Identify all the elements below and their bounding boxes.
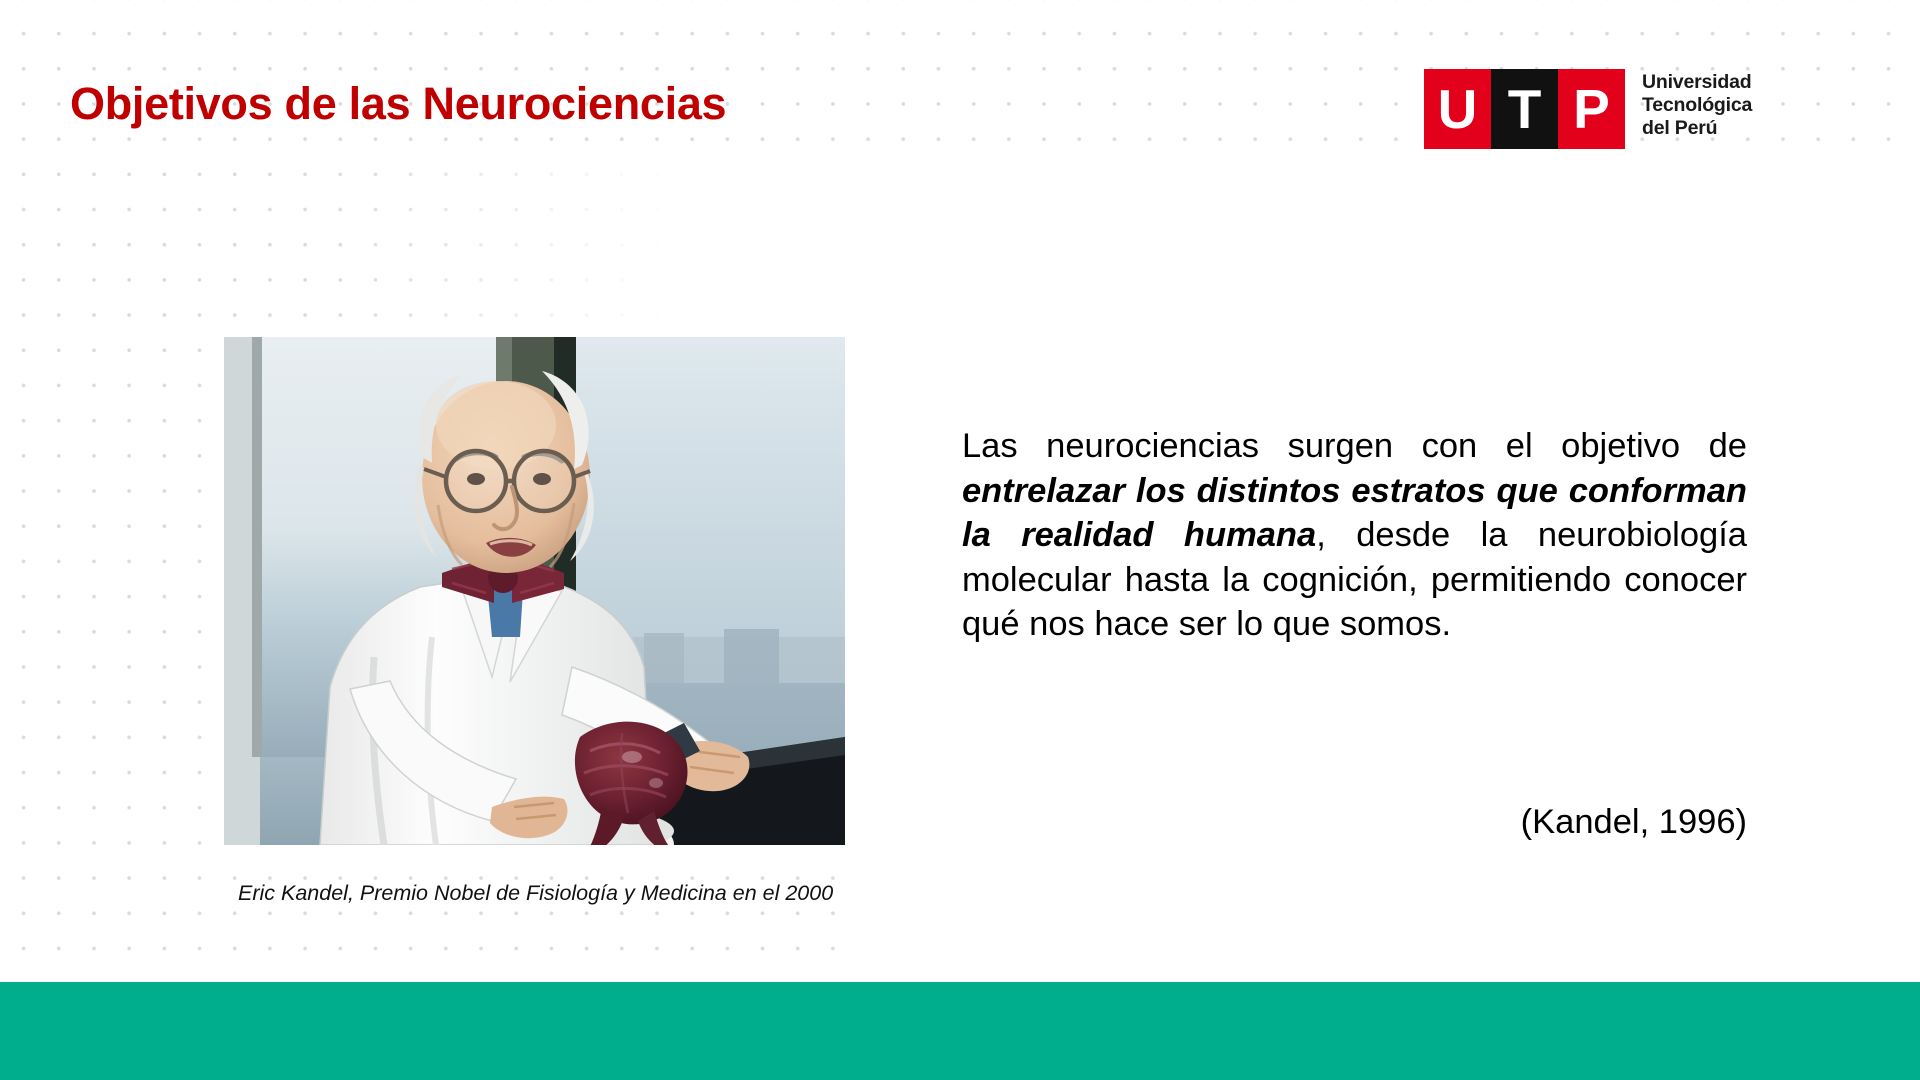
kandel-photo-illustration — [224, 337, 845, 845]
background-mask-top — [330, 150, 1920, 320]
utp-letter-p: P — [1558, 69, 1625, 149]
body-lead-text: Las neurociencias surgen con el objetivo… — [962, 427, 1747, 465]
body-paragraph: Las neurociencias surgen con el objetivo… — [962, 424, 1747, 647]
utp-wordmark-line-1: Universidad — [1642, 71, 1752, 94]
utp-letter-t: T — [1491, 69, 1558, 149]
photo-caption-text: Eric Kandel, Premio Nobel de Fisiología … — [238, 881, 833, 905]
utp-wordmark-line-3: del Perú — [1642, 117, 1752, 140]
photo-caption: Eric Kandel, Premio Nobel de Fisiología … — [238, 878, 842, 909]
utp-wordmark: Universidad Tecnológica del Perú — [1642, 71, 1752, 139]
utp-logo-boxes: U T P — [1424, 69, 1625, 149]
utp-logo: U T P Universidad Tecnológica del Perú — [1424, 69, 1752, 149]
slide-canvas: Objetivos de las Neurociencias U T P Uni… — [0, 0, 1920, 1080]
utp-wordmark-line-2: Tecnológica — [1642, 94, 1752, 117]
page-title: Objetivos de las Neurociencias — [70, 78, 726, 130]
citation: (Kandel, 1996) — [962, 803, 1747, 842]
utp-letter-u: U — [1424, 69, 1491, 149]
footer-bar — [0, 982, 1920, 1080]
kandel-photo — [224, 337, 845, 845]
